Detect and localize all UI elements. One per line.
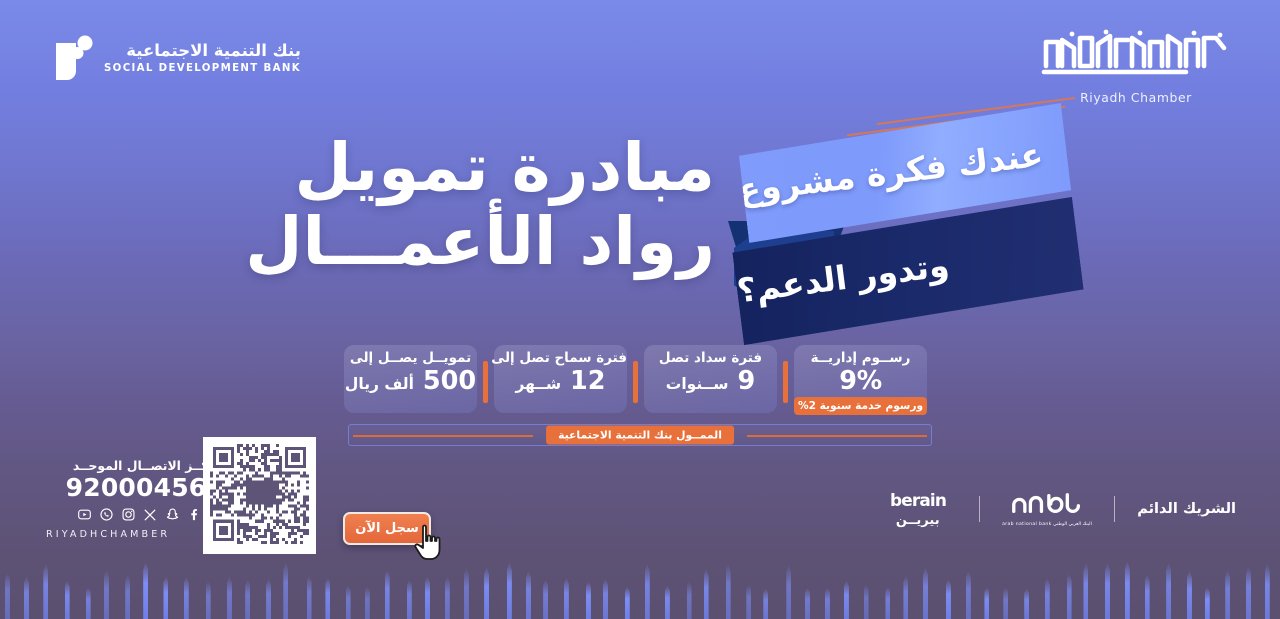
feature-card-financing-amount: تمويــل يصــل إلى 500 ألف ريال	[344, 345, 477, 413]
bottom-bar	[885, 586, 890, 619]
bottom-bar	[966, 570, 971, 619]
feature-caption: رســوم إداريــة	[794, 350, 927, 366]
feature-number: 9	[737, 366, 755, 396]
contact-phone-number[interactable]: 920004565	[44, 474, 224, 503]
bottom-bar	[746, 584, 751, 619]
status-badge: ورسوم خدمة سنوية 2%	[794, 397, 927, 415]
bottom-bar	[143, 561, 148, 619]
bottom-bars-decor	[0, 551, 1280, 619]
feature-value: 9 ســنوات	[644, 367, 777, 396]
bottom-bar	[104, 569, 109, 619]
sdb-logo-arabic: بنك التنمية الاجتماعية	[104, 42, 301, 61]
bottom-bar	[704, 568, 709, 619]
riyadh-chamber-calligraphy-icon	[1036, 26, 1236, 86]
headline-line-1: مبادرة تمويل	[245, 131, 715, 205]
bottom-bar	[687, 581, 692, 619]
bottom-bar	[946, 579, 951, 619]
bottom-bar	[266, 578, 271, 619]
partner-separator	[979, 496, 980, 522]
card-divider	[633, 361, 638, 403]
feature-cards: تمويــل يصــل إلى 500 ألف ريال فترة سماح…	[344, 345, 936, 419]
bottom-bar	[1083, 562, 1088, 619]
bottom-bar	[163, 576, 168, 619]
bottom-bar	[923, 566, 928, 619]
x-twitter-icon[interactable]	[142, 507, 158, 523]
bottom-bar	[325, 577, 330, 619]
feature-caption: فترة سداد تصل	[644, 350, 777, 366]
sdb-logo-text: بنك التنمية الاجتماعية SOCIAL DEVELOPMEN…	[104, 42, 301, 75]
bottom-bar	[507, 561, 512, 619]
bottom-bar	[425, 576, 430, 619]
feature-caption: تمويــل يصــل إلى	[344, 350, 477, 366]
riyadh-chamber-logo: Riyadh Chamber	[1036, 26, 1236, 105]
partner-label: الشريك الدائم	[1137, 501, 1236, 517]
bottom-bar	[1205, 587, 1210, 619]
financier-bar: الممــول بنك التنمية الاجتماعية	[348, 424, 932, 446]
bottom-bar	[43, 563, 48, 619]
bottom-bar	[445, 576, 450, 619]
feature-number: 12	[570, 366, 606, 396]
berain-logo-arabic: بيريــن	[879, 513, 957, 528]
bottom-bar	[564, 577, 569, 619]
bottom-bar	[1125, 560, 1130, 619]
bottom-bar	[1265, 563, 1270, 619]
social-handle: RIYADHCHAMBER	[44, 529, 224, 540]
register-now-button[interactable]: سجل الآن	[343, 512, 431, 545]
feature-card-repayment-period: فترة سداد تصل 9 ســنوات	[644, 345, 777, 413]
bottom-bar	[484, 566, 489, 619]
bottom-bar	[184, 576, 189, 619]
youtube-icon[interactable]	[76, 507, 92, 523]
bottom-bar	[1225, 569, 1230, 619]
feature-unit: ألف ريال	[345, 375, 414, 393]
ribbon-bottom-text: وتدور الدعم؟	[735, 241, 978, 314]
bottom-bar	[5, 572, 10, 619]
bottom-bar	[407, 579, 412, 619]
bottom-bar	[24, 576, 29, 619]
instagram-icon[interactable]	[120, 507, 136, 523]
headline-line-2: رواد الأعمـــال	[245, 205, 715, 279]
feature-unit: ســنوات	[666, 375, 729, 393]
card-divider	[783, 361, 788, 403]
feature-caption: فترة سماح تصل إلى	[494, 350, 627, 366]
bottom-bar	[283, 561, 288, 619]
bottom-bar	[1187, 570, 1192, 619]
svg-text:berain: berain	[890, 490, 946, 510]
bottom-bar	[1045, 578, 1050, 619]
bottom-bar	[125, 574, 130, 619]
bottom-bar	[864, 584, 869, 619]
sdb-logo-english: SOCIAL DEVELOPMENT BANK	[104, 63, 301, 75]
bottom-bar	[86, 587, 91, 619]
bottom-bar	[227, 576, 232, 619]
berain-logo: berain بيريــن	[879, 490, 957, 528]
bottom-bar	[1166, 562, 1171, 619]
bottom-bar	[805, 587, 810, 619]
feature-value: 9%	[794, 367, 927, 396]
bottom-bar	[307, 575, 312, 619]
partners-strip: الشريك الدائم البنك العربي الوطني arab n…	[879, 490, 1236, 528]
bottom-bar	[625, 586, 630, 619]
bottom-bar	[984, 587, 989, 619]
feature-value: 500 ألف ريال	[344, 367, 477, 396]
contact-center-label: مركــز الاتصــال الموحــد	[44, 458, 224, 473]
bottom-bar	[1246, 566, 1251, 619]
anb-logo-subtext: البنك العربي الوطني arab national bank	[1002, 522, 1092, 527]
snapchat-icon[interactable]	[164, 507, 180, 523]
hero-ribbons: عندك فكرة مشروع وتدور الدعم؟	[720, 108, 1080, 348]
bottom-bar	[365, 586, 370, 619]
bottom-bar	[245, 579, 250, 619]
bottom-bar	[385, 569, 390, 619]
bottom-bar	[1003, 587, 1008, 619]
facebook-icon[interactable]	[186, 507, 202, 523]
financier-tag: الممــول بنك التنمية الاجتماعية	[546, 426, 734, 445]
social-links	[44, 507, 224, 523]
bottom-bar	[825, 587, 830, 619]
bottom-bar	[1024, 588, 1029, 619]
feature-unit: شــهر	[515, 375, 561, 393]
feature-card-grace-period: فترة سماح تصل إلى 12 شــهر	[494, 345, 627, 413]
bottom-bar	[586, 581, 591, 619]
bottom-bar	[603, 578, 608, 619]
bottom-bar	[346, 585, 351, 619]
feature-card-admin-fees: رســوم إداريــة 9% ورسوم خدمة سنوية 2%	[794, 345, 927, 413]
bottom-bar	[543, 579, 548, 619]
sdb-monogram-icon	[48, 32, 94, 84]
feature-number: 9%	[839, 366, 882, 396]
feature-value: 12 شــهر	[494, 367, 627, 396]
bottom-bar	[206, 581, 211, 619]
bottom-bar	[665, 585, 670, 619]
bottom-bar	[903, 575, 908, 619]
page-title: مبادرة تمويل رواد الأعمـــال	[245, 131, 715, 279]
bottom-bar	[726, 563, 731, 619]
bottom-bar	[786, 564, 791, 619]
bottom-bar	[464, 567, 469, 619]
bottom-bar	[1105, 562, 1110, 619]
card-divider	[483, 361, 488, 403]
bottom-bar	[1145, 574, 1150, 619]
bottom-bar	[65, 580, 70, 619]
register-now-label: سجل الآن	[355, 521, 419, 536]
feature-number: 500	[423, 366, 476, 396]
bottom-bar	[526, 570, 531, 619]
campaign-banner: بنك التنمية الاجتماعية SOCIAL DEVELOPMEN…	[0, 0, 1280, 619]
whatsapp-icon[interactable]	[98, 507, 114, 523]
bottom-bar	[645, 563, 650, 619]
partner-separator	[1114, 496, 1115, 522]
anb-logo: البنك العربي الوطني arab national bank	[1002, 492, 1092, 527]
bottom-bar	[763, 588, 768, 619]
registration-qr-code[interactable]	[203, 437, 316, 554]
social-development-bank-logo: بنك التنمية الاجتماعية SOCIAL DEVELOPMEN…	[48, 32, 301, 84]
contact-block: مركــز الاتصــال الموحــد 920004565	[44, 458, 224, 540]
bottom-bar	[844, 580, 849, 619]
bottom-bar	[1067, 573, 1072, 619]
